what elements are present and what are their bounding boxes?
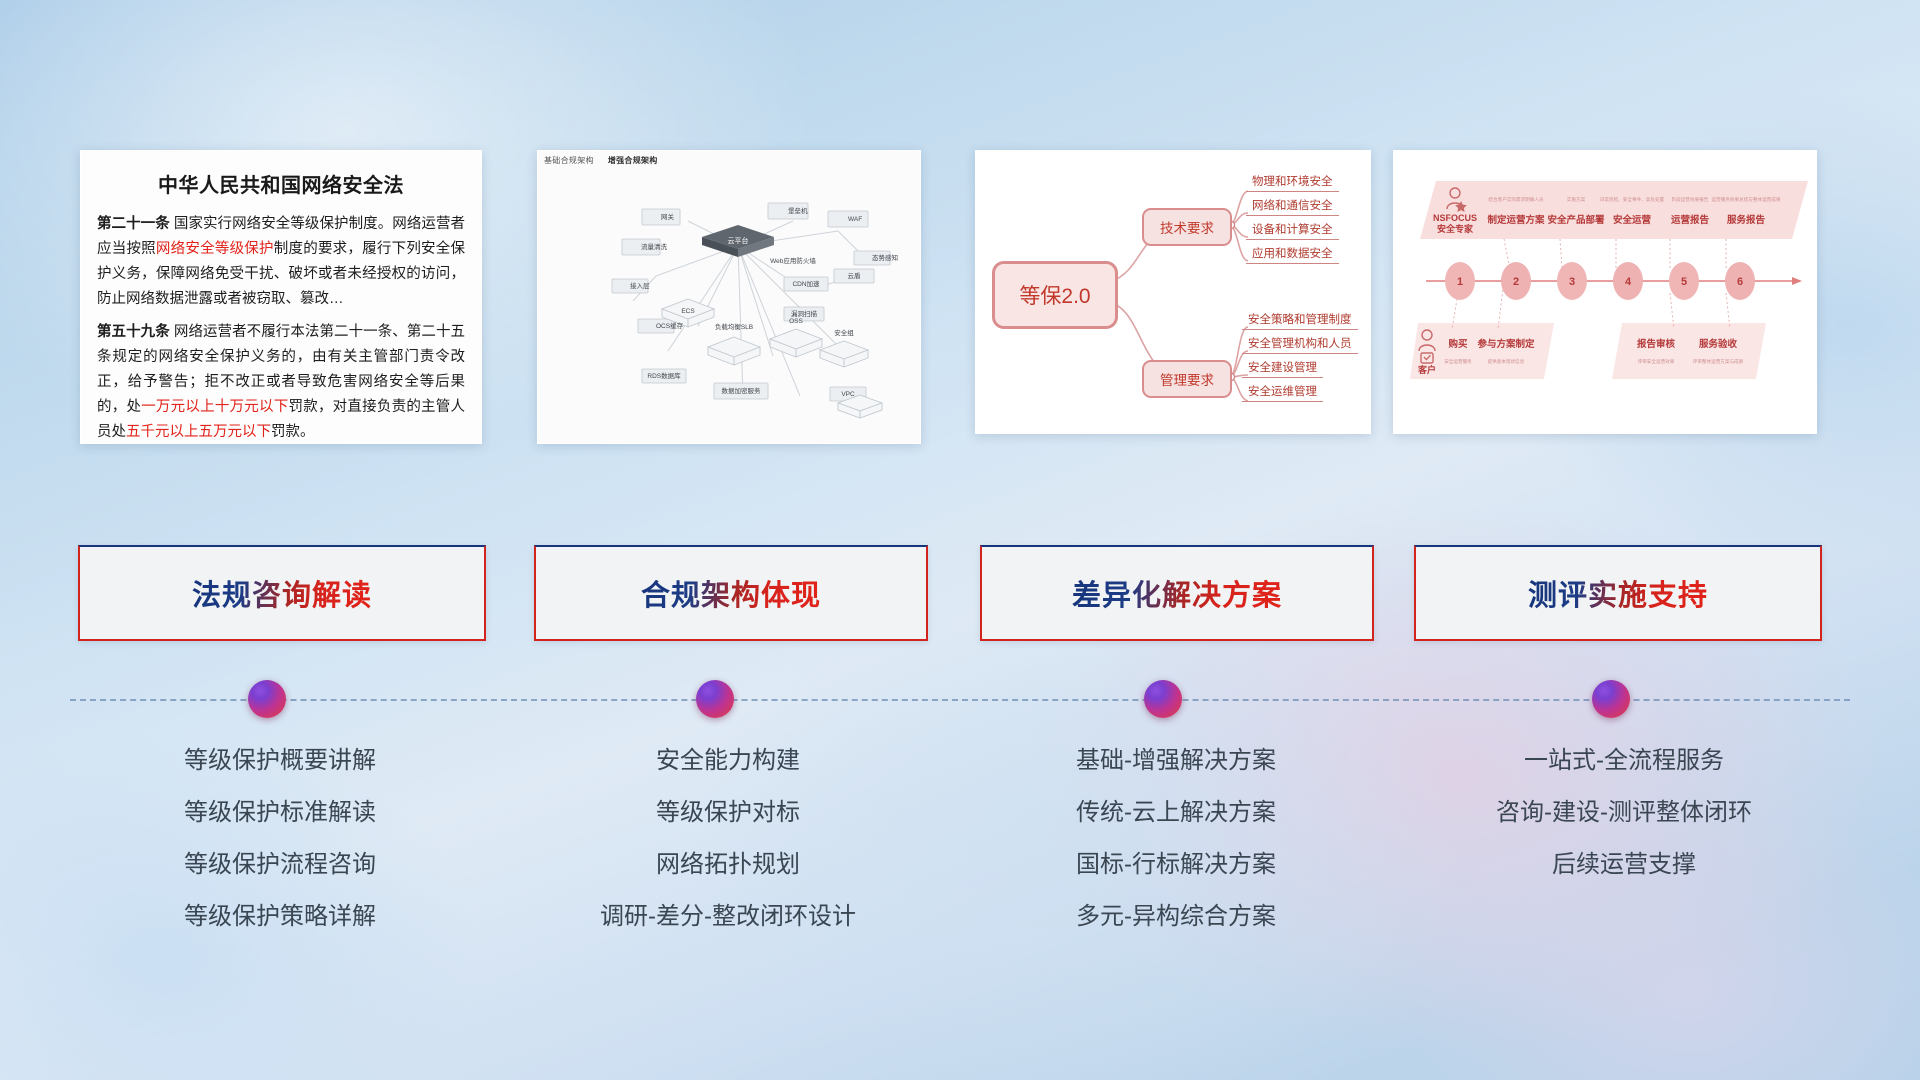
architecture-svg: 云平台 bbox=[538, 151, 920, 443]
list-item[interactable]: 传统-云上解决方案 bbox=[956, 787, 1396, 839]
mindmap-branch-technical[interactable]: 技术要求 bbox=[1142, 208, 1232, 246]
detail-list-architecture: 安全能力构建 等级保护对标 网络拓扑规划 调研-差分-整改闭环设计 bbox=[508, 735, 948, 943]
svg-text:NSFOCUS: NSFOCUS bbox=[1433, 213, 1477, 223]
svg-text:评审整体运营方案与成果: 评审整体运营方案与成果 bbox=[1693, 358, 1744, 365]
svg-text:接入层: 接入层 bbox=[630, 281, 650, 290]
card-compliance-architecture[interactable]: 基础合规架构增强合规架构 云平台 bbox=[537, 150, 921, 444]
svg-text:结合客户实际需求明确人员: 结合客户实际需求明确人员 bbox=[1488, 196, 1544, 203]
article-59-highlight-2: 五千元以上五万元以下 bbox=[126, 424, 271, 440]
list-item[interactable]: 调研-差分-整改闭环设计 bbox=[508, 891, 948, 943]
svg-text:RDS数据库: RDS数据库 bbox=[647, 371, 681, 380]
vendor-band bbox=[1420, 181, 1808, 239]
svg-text:评审安全运营效果: 评审安全运营效果 bbox=[1638, 358, 1675, 365]
svg-text:制定运营方案: 制定运营方案 bbox=[1487, 214, 1545, 226]
banner-regulation-consulting[interactable]: 法规咨询解读 bbox=[78, 545, 486, 641]
svg-text:WAF: WAF bbox=[848, 216, 862, 223]
mindmap-branch-management[interactable]: 管理要求 bbox=[1142, 360, 1232, 398]
svg-text:日常巡检、安全事件、高危处置: 日常巡检、安全事件、高危处置 bbox=[1600, 196, 1665, 203]
detail-list-regulation: 等级保护概要讲解 等级保护标准解读 等级保护流程咨询 等级保护策略详解 bbox=[60, 735, 500, 943]
card-cybersecurity-law[interactable]: 中华人民共和国网络安全法 第二十一条 国家实行网络安全等级保护制度。网络运营者应… bbox=[80, 150, 482, 444]
article-21-label: 第二十一条 bbox=[97, 216, 170, 232]
nsfocus-diagram: 123 456 bbox=[1394, 151, 1816, 433]
article-59-highlight-1: 一万元以上十万元以下 bbox=[141, 399, 288, 415]
card-mindmap-dengbao[interactable]: 等保2.0 技术要求 管理要求 物理和环境安全 网络和通信安全 设备和计算安全 … bbox=[975, 150, 1371, 434]
customer-band-right bbox=[1612, 323, 1766, 379]
svg-text:CDN加速: CDN加速 bbox=[792, 279, 820, 288]
detail-list-row: 等级保护概要讲解 等级保护标准解读 等级保护流程咨询 等级保护策略详解 安全能力… bbox=[0, 735, 1920, 965]
svg-text:提供基本现状信息: 提供基本现状信息 bbox=[1488, 358, 1525, 365]
svg-text:负载均衡SLB: 负载均衡SLB bbox=[715, 322, 753, 331]
svg-text:安全组: 安全组 bbox=[834, 328, 854, 337]
svg-text:1: 1 bbox=[1457, 276, 1463, 288]
banner-label: 法规咨询解读 bbox=[192, 572, 372, 614]
svg-text:安全产品部署: 安全产品部署 bbox=[1547, 214, 1605, 226]
mindmap-leaf-policy-system[interactable]: 安全策略和管理制度 bbox=[1242, 311, 1358, 330]
banner-row: 法规咨询解读 合规架构体现 差异化解决方案 测评实施支持 bbox=[0, 545, 1920, 645]
card-row: 中华人民共和国网络安全法 第二十一条 国家实行网络安全等级保护制度。网络运营者应… bbox=[0, 150, 1920, 450]
mindmap-leaf-ops-mgmt[interactable]: 安全运维管理 bbox=[1242, 383, 1323, 402]
svg-text:实施方案: 实施方案 bbox=[1567, 196, 1586, 203]
list-item[interactable]: 等级保护标准解读 bbox=[60, 787, 500, 839]
mindmap-leaf-org-personnel[interactable]: 安全管理机构和人员 bbox=[1242, 335, 1358, 354]
card-nsfocus-service-flow[interactable]: 123 456 bbox=[1393, 150, 1817, 434]
svg-text:OSS: OSS bbox=[789, 318, 803, 325]
list-item[interactable]: 等级保护策略详解 bbox=[60, 891, 500, 943]
list-item[interactable]: 后续运营支撑 bbox=[1404, 839, 1844, 891]
mindmap-diagram: 等保2.0 技术要求 管理要求 物理和环境安全 网络和通信安全 设备和计算安全 … bbox=[976, 151, 1370, 433]
svg-text:运营报告: 运营报告 bbox=[1671, 214, 1710, 226]
list-item[interactable]: 咨询-建设-测评整体闭环 bbox=[1404, 787, 1844, 839]
list-item[interactable]: 多元-异构综合方案 bbox=[956, 891, 1396, 943]
list-item[interactable]: 等级保护流程咨询 bbox=[60, 839, 500, 891]
article-21-highlight: 网络安全等级保护 bbox=[156, 241, 274, 257]
list-item[interactable]: 等级保护对标 bbox=[508, 787, 948, 839]
timeline-dot-4[interactable] bbox=[1592, 680, 1630, 718]
banner-label: 差异化解决方案 bbox=[1072, 572, 1282, 614]
svg-text:网关: 网关 bbox=[661, 212, 675, 221]
svg-text:漏洞扫描: 漏洞扫描 bbox=[791, 309, 818, 318]
list-item[interactable]: 等级保护概要讲解 bbox=[60, 735, 500, 787]
banner-assessment-support[interactable]: 测评实施支持 bbox=[1414, 545, 1822, 641]
banner-label: 合规架构体现 bbox=[641, 572, 821, 614]
mindmap-leaf-device-compute[interactable]: 设备和计算安全 bbox=[1246, 221, 1339, 240]
svg-text:安全运营: 安全运营 bbox=[1613, 214, 1652, 226]
svg-text:购买: 购买 bbox=[1448, 338, 1468, 350]
svg-text:数据加密服务: 数据加密服务 bbox=[722, 386, 762, 395]
svg-text:报告审核: 报告审核 bbox=[1637, 338, 1676, 350]
list-item[interactable]: 基础-增强解决方案 bbox=[956, 735, 1396, 787]
law-article-59: 第五十九条 网络运营者不履行本法第二十一条、第二十五条规定的网络安全保护义务的，… bbox=[97, 320, 465, 445]
svg-text:安全运营服务: 安全运营服务 bbox=[1444, 358, 1472, 365]
svg-text:服务报告: 服务报告 bbox=[1727, 214, 1766, 226]
law-title: 中华人民共和国网络安全法 bbox=[97, 169, 465, 198]
nsfocus-svg: 123 456 bbox=[1394, 151, 1816, 433]
mindmap-leaf-app-data[interactable]: 应用和数据安全 bbox=[1246, 245, 1339, 264]
svg-text:Web应用防火墙: Web应用防火墙 bbox=[770, 256, 816, 265]
law-article-21: 第二十一条 国家实行网络安全等级保护制度。网络运营者应当按照网络安全等级保护制度… bbox=[97, 212, 465, 312]
mindmap-leaf-build-mgmt[interactable]: 安全建设管理 bbox=[1242, 359, 1323, 378]
timeline-dot-3[interactable] bbox=[1144, 680, 1182, 718]
list-item[interactable]: 网络拓扑规划 bbox=[508, 839, 948, 891]
list-item[interactable]: 国标-行标解决方案 bbox=[956, 839, 1396, 891]
banner-label: 测评实施支持 bbox=[1528, 572, 1708, 614]
article-59-after: 罚款。 bbox=[271, 424, 315, 440]
law-text-body: 中华人民共和国网络安全法 第二十一条 国家实行网络安全等级保护制度。网络运营者应… bbox=[81, 151, 481, 443]
timeline-dot-1[interactable] bbox=[248, 680, 286, 718]
svg-text:堡垒机: 堡垒机 bbox=[788, 206, 808, 215]
architecture-diagram: 基础合规架构增强合规架构 云平台 bbox=[538, 151, 920, 443]
banner-differentiated-solution[interactable]: 差异化解决方案 bbox=[980, 545, 1374, 641]
slide-stage: 中华人民共和国网络安全法 第二十一条 国家实行网络安全等级保护制度。网络运营者应… bbox=[0, 0, 1920, 1080]
svg-text:客户: 客户 bbox=[1417, 364, 1436, 375]
svg-text:4: 4 bbox=[1625, 276, 1632, 288]
svg-text:ECS: ECS bbox=[681, 308, 695, 315]
svg-text:流量清洗: 流量清洗 bbox=[641, 242, 668, 251]
svg-text:运营服务效果总结与整体运营成果: 运营服务效果总结与整体运营成果 bbox=[1712, 196, 1781, 203]
svg-text:参与方案制定: 参与方案制定 bbox=[1476, 338, 1535, 350]
detail-list-assessment: 一站式-全流程服务 咨询-建设-测评整体闭环 后续运营支撑 bbox=[1404, 735, 1844, 891]
article-59-label: 第五十九条 bbox=[97, 324, 170, 340]
arch-center-node: 云平台 bbox=[702, 225, 774, 257]
list-item[interactable]: 安全能力构建 bbox=[508, 735, 948, 787]
svg-text:阶段运营效果报告: 阶段运营效果报告 bbox=[1672, 196, 1709, 203]
svg-text:服务验收: 服务验收 bbox=[1699, 338, 1738, 350]
svg-text:VPC: VPC bbox=[841, 391, 855, 398]
svg-text:态势感知: 态势感知 bbox=[872, 253, 898, 262]
timeline-dot-2[interactable] bbox=[696, 680, 734, 718]
svg-text:5: 5 bbox=[1681, 276, 1687, 288]
mindmap-leaf-physical-env[interactable]: 物理和环境安全 bbox=[1246, 173, 1339, 192]
svg-text:2: 2 bbox=[1513, 276, 1519, 288]
timeline-dashed-line bbox=[70, 699, 1850, 701]
svg-text:OCS缓存: OCS缓存 bbox=[656, 321, 684, 330]
svg-text:云盾: 云盾 bbox=[848, 272, 862, 280]
mindmap-root[interactable]: 等保2.0 bbox=[992, 261, 1118, 329]
banner-compliance-architecture[interactable]: 合规架构体现 bbox=[534, 545, 928, 641]
detail-list-solution: 基础-增强解决方案 传统-云上解决方案 国标-行标解决方案 多元-异构综合方案 bbox=[956, 735, 1396, 943]
mindmap-leaf-network-comm[interactable]: 网络和通信安全 bbox=[1246, 197, 1339, 216]
svg-text:安全专家: 安全专家 bbox=[1437, 223, 1474, 234]
svg-text:3: 3 bbox=[1569, 276, 1575, 288]
svg-text:6: 6 bbox=[1737, 276, 1743, 288]
list-item[interactable]: 一站式-全流程服务 bbox=[1404, 735, 1844, 787]
svg-text:云平台: 云平台 bbox=[728, 236, 749, 245]
timeline bbox=[0, 680, 1920, 740]
